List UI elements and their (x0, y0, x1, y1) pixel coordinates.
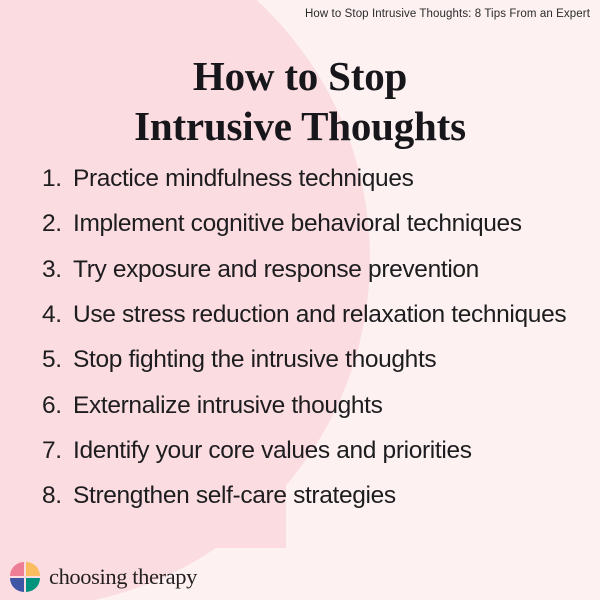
page-title-line-2: Intrusive Thoughts (0, 102, 600, 152)
pinwheel-quadrant-bottom-right (26, 578, 40, 592)
list-item: 7. Identify your core values and priorit… (42, 435, 570, 467)
list-item-number: 1. (42, 163, 73, 195)
list-item-label: Externalize intrusive thoughts (73, 390, 570, 422)
list-item: 8. Strengthen self-care strategies (42, 480, 570, 512)
header-eyebrow-text: How to Stop Intrusive Thoughts: 8 Tips F… (305, 8, 590, 20)
list-item: 5. Stop fighting the intrusive thoughts (42, 344, 570, 376)
list-item: 2. Implement cognitive behavioral techni… (42, 208, 570, 240)
choosing-therapy-logo: choosing therapy (10, 562, 197, 592)
list-item-number: 5. (42, 344, 73, 376)
page-title: How to Stop Intrusive Thoughts (0, 52, 600, 151)
page-title-line-1: How to Stop (0, 52, 600, 102)
pinwheel-quadrant-top-left (10, 562, 24, 576)
list-item: 4. Use stress reduction and relaxation t… (42, 299, 570, 331)
list-item-label: Use stress reduction and relaxation tech… (73, 299, 570, 331)
list-item: 1. Practice mindfulness techniques (42, 163, 570, 195)
infographic-canvas: How to Stop Intrusive Thoughts: 8 Tips F… (0, 0, 600, 600)
list-item-number: 8. (42, 480, 73, 512)
logo-wordmark: choosing therapy (49, 564, 197, 590)
tips-list: 1. Practice mindfulness techniques 2. Im… (42, 163, 570, 526)
pinwheel-quadrant-top-right (26, 562, 40, 576)
list-item-label: Implement cognitive behavioral technique… (73, 208, 570, 240)
list-item-number: 7. (42, 435, 73, 467)
list-item-number: 3. (42, 254, 73, 286)
list-item-label: Strengthen self-care strategies (73, 480, 570, 512)
list-item: 3. Try exposure and response prevention (42, 254, 570, 286)
four-quadrant-pinwheel-icon (10, 562, 40, 592)
list-item-number: 6. (42, 390, 73, 422)
list-item-number: 2. (42, 208, 73, 240)
pinwheel-quadrant-bottom-left (10, 578, 24, 592)
list-item: 6. Externalize intrusive thoughts (42, 390, 570, 422)
list-item-label: Practice mindfulness techniques (73, 163, 570, 195)
list-item-label: Identify your core values and priorities (73, 435, 570, 467)
list-item-label: Try exposure and response prevention (73, 254, 570, 286)
list-item-number: 4. (42, 299, 73, 331)
list-item-label: Stop fighting the intrusive thoughts (73, 344, 570, 376)
